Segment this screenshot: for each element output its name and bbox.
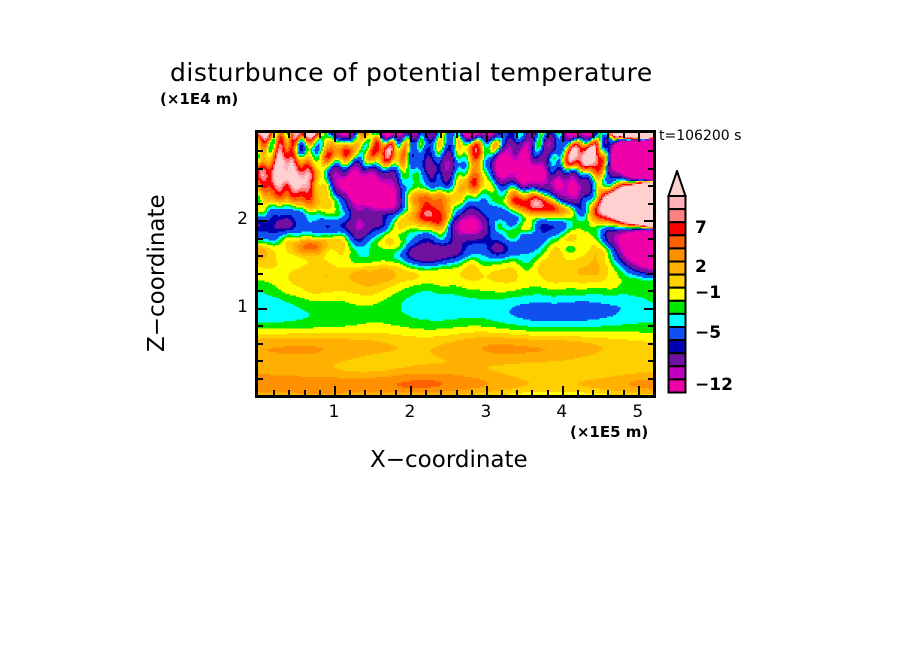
y-tick-left: [258, 185, 263, 187]
x-tick-bottom: [516, 390, 518, 395]
colorbar-band: [669, 235, 686, 248]
y-tick-right: [648, 360, 653, 362]
colorbar: [667, 170, 687, 395]
y-tick-right: [648, 168, 653, 170]
x-tick-bottom: [304, 390, 306, 395]
x-tick-bottom: [547, 390, 549, 395]
y-tick-left: [258, 378, 263, 380]
x-tick-label: 4: [550, 402, 574, 422]
page-title: disturbunce of potential temperature: [170, 58, 750, 87]
y-axis-unit-label: (×1E4 m): [160, 90, 238, 108]
x-tick-top: [471, 133, 473, 138]
colorbar-band: [669, 196, 686, 209]
y-tick-left: [258, 360, 263, 362]
x-tick-label: 3: [474, 402, 498, 422]
y-tick-left: [258, 255, 263, 257]
x-tick-top: [592, 133, 594, 138]
x-tick-bottom: [638, 386, 640, 395]
x-tick-bottom: [334, 386, 336, 395]
colorbar-tick-label: −12: [695, 375, 733, 395]
colorbar-tick-label: 7: [695, 218, 707, 238]
x-tick-label: 1: [322, 402, 346, 422]
colorbar-band: [669, 301, 686, 314]
y-tick-right: [648, 238, 653, 240]
colorbar-band: [669, 222, 686, 235]
colorbar-band: [669, 288, 686, 301]
x-tick-top: [395, 133, 397, 138]
x-tick-top: [638, 133, 640, 142]
colorbar-band: [669, 366, 686, 379]
x-axis-unit-label: (×1E5 m): [570, 423, 648, 441]
x-tick-bottom: [577, 390, 579, 395]
x-tick-top: [607, 133, 609, 138]
x-tick-bottom: [273, 390, 275, 395]
colorbar-band: [669, 353, 686, 366]
x-tick-bottom: [395, 390, 397, 395]
colorbar-band: [669, 314, 686, 327]
y-tick-label: 1: [222, 297, 248, 317]
colorbar-band: [669, 209, 686, 222]
figure-canvas: disturbunce of potential temperature (×1…: [0, 0, 904, 654]
x-tick-bottom: [380, 390, 382, 395]
x-axis-title: X−coordinate: [370, 447, 528, 473]
colorbar-band: [669, 248, 686, 261]
x-tick-top: [456, 133, 458, 138]
y-tick-label: 2: [222, 209, 248, 229]
y-tick-left: [258, 325, 263, 327]
x-tick-top: [349, 133, 351, 138]
y-tick-left: [258, 220, 267, 222]
x-tick-bottom: [562, 386, 564, 395]
y-tick-right: [648, 325, 653, 327]
colorbar-tick-label: −5: [695, 323, 721, 343]
x-tick-top: [486, 133, 488, 142]
x-tick-bottom: [288, 390, 290, 395]
x-tick-top: [501, 133, 503, 138]
y-tick-right: [648, 290, 653, 292]
x-tick-top: [547, 133, 549, 138]
y-tick-left: [258, 238, 263, 240]
x-tick-top: [577, 133, 579, 138]
x-tick-top: [623, 133, 625, 138]
y-tick-right: [648, 255, 653, 257]
x-tick-bottom: [531, 390, 533, 395]
x-tick-bottom: [349, 390, 351, 395]
x-tick-bottom: [440, 390, 442, 395]
y-tick-right: [648, 343, 653, 345]
x-tick-bottom: [592, 390, 594, 395]
y-tick-left: [258, 203, 263, 205]
x-tick-bottom: [471, 390, 473, 395]
y-tick-left: [258, 290, 263, 292]
contour-field: [258, 133, 653, 395]
y-tick-right: [648, 273, 653, 275]
x-tick-top: [410, 133, 412, 142]
y-tick-right: [648, 185, 653, 187]
x-tick-top: [364, 133, 366, 138]
colorbar-tick-label: 2: [695, 257, 707, 277]
colorbar-arrow-top: [669, 171, 686, 196]
y-tick-right: [648, 378, 653, 380]
x-tick-bottom: [456, 390, 458, 395]
x-tick-bottom: [486, 386, 488, 395]
colorbar-band: [669, 275, 686, 288]
x-tick-top: [562, 133, 564, 142]
colorbar-tick-label: −1: [695, 283, 721, 303]
x-tick-top: [304, 133, 306, 138]
x-tick-bottom: [623, 390, 625, 395]
x-tick-top: [380, 133, 382, 138]
y-tick-right: [644, 220, 653, 222]
x-tick-label: 2: [398, 402, 422, 422]
x-tick-top: [273, 133, 275, 138]
colorbar-band: [669, 262, 686, 275]
x-tick-bottom: [410, 386, 412, 395]
colorbar-band: [669, 327, 686, 340]
x-tick-top: [319, 133, 321, 138]
y-axis-title: Z−coordinate: [144, 172, 170, 352]
y-tick-left: [258, 168, 263, 170]
contour-plot-area: [255, 130, 656, 398]
x-tick-bottom: [364, 390, 366, 395]
x-tick-bottom: [501, 390, 503, 395]
y-tick-right: [648, 203, 653, 205]
x-tick-top: [334, 133, 336, 142]
y-tick-left: [258, 273, 263, 275]
y-tick-right: [644, 308, 653, 310]
time-stamp-annotation: t=106200 s: [659, 128, 741, 144]
colorbar-band: [669, 340, 686, 353]
x-tick-top: [425, 133, 427, 138]
y-tick-left: [258, 308, 267, 310]
x-tick-bottom: [319, 390, 321, 395]
x-tick-bottom: [607, 390, 609, 395]
x-tick-top: [531, 133, 533, 138]
x-tick-bottom: [425, 390, 427, 395]
colorbar-band: [669, 379, 686, 392]
y-tick-left: [258, 343, 263, 345]
x-tick-label: 5: [626, 402, 650, 422]
x-tick-top: [440, 133, 442, 138]
y-tick-right: [648, 150, 653, 152]
y-tick-left: [258, 150, 263, 152]
x-tick-top: [288, 133, 290, 138]
x-tick-top: [516, 133, 518, 138]
colorbar-swatches: [667, 170, 687, 395]
